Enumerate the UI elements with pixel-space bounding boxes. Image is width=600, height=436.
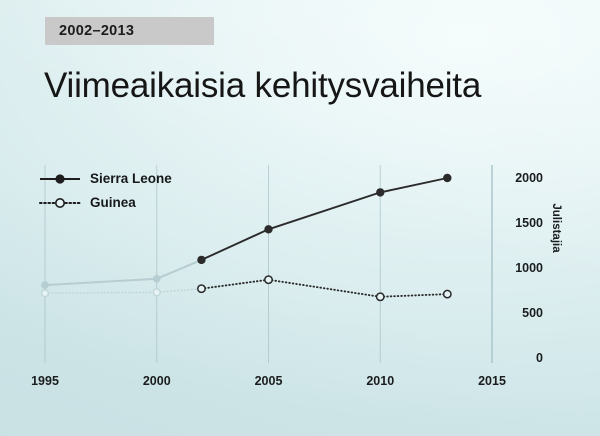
point-guinea-2000 (153, 289, 160, 296)
point-sierra-leone-2002 (197, 256, 205, 264)
y-axis-title: Julistajia (550, 203, 562, 252)
legend-item-sierra-leone: Sierra Leone (38, 168, 172, 189)
y-tick-label-1000: 1000 (505, 261, 543, 275)
date-range-badge: 2002–2013 (45, 17, 214, 45)
x-tick-label-2000: 2000 (143, 374, 171, 388)
point-sierra-leone-2005 (264, 225, 272, 233)
date-range-label: 2002–2013 (45, 23, 134, 39)
x-tick-label-2015: 2015 (478, 374, 506, 388)
point-sierra-leone-2013 (443, 174, 451, 182)
series-0-segment-2 (201, 229, 268, 260)
series-1-segment-4 (380, 294, 447, 297)
series-0-segment-3 (269, 192, 381, 229)
legend-key-dotted-open-circle-icon (38, 196, 82, 210)
x-tick-label-2005: 2005 (255, 374, 283, 388)
x-tick-label-2010: 2010 (366, 374, 394, 388)
chart-legend: Sierra Leone Guinea (38, 168, 172, 216)
series-0-segment-0 (45, 279, 157, 285)
page-title: Viimeaikaisia kehitysvaiheita (44, 66, 481, 106)
y-tick-label-1500: 1500 (505, 216, 543, 230)
legend-key-solid-filled-circle-icon (38, 172, 82, 186)
series-1-segment-2 (201, 280, 268, 289)
point-sierra-leone-1995 (41, 281, 49, 289)
series-0-segment-4 (380, 178, 447, 192)
point-guinea-2002 (198, 285, 205, 292)
point-guinea-2010 (377, 293, 384, 300)
point-sierra-leone-2010 (376, 188, 384, 196)
series-1-segment-0 (45, 292, 157, 293)
point-guinea-1995 (42, 290, 49, 297)
y-tick-label-0: 0 (505, 351, 543, 365)
series-0-segment-1 (157, 260, 202, 279)
slide-canvas: 2002–2013 Viimeaikaisia kehitysvaiheita … (0, 0, 600, 436)
y-tick-label-500: 500 (505, 306, 543, 320)
y-tick-label-2000: 2000 (505, 171, 543, 185)
legend-item-guinea: Guinea (38, 192, 172, 213)
legend-label-guinea: Guinea (90, 195, 136, 210)
point-guinea-2005 (265, 276, 272, 283)
point-guinea-2013 (444, 290, 451, 297)
series-1-segment-1 (157, 289, 202, 293)
point-sierra-leone-2000 (153, 275, 161, 283)
x-tick-label-1995: 1995 (31, 374, 59, 388)
legend-label-sierra-leone: Sierra Leone (90, 171, 172, 186)
series-1-segment-3 (269, 280, 381, 297)
